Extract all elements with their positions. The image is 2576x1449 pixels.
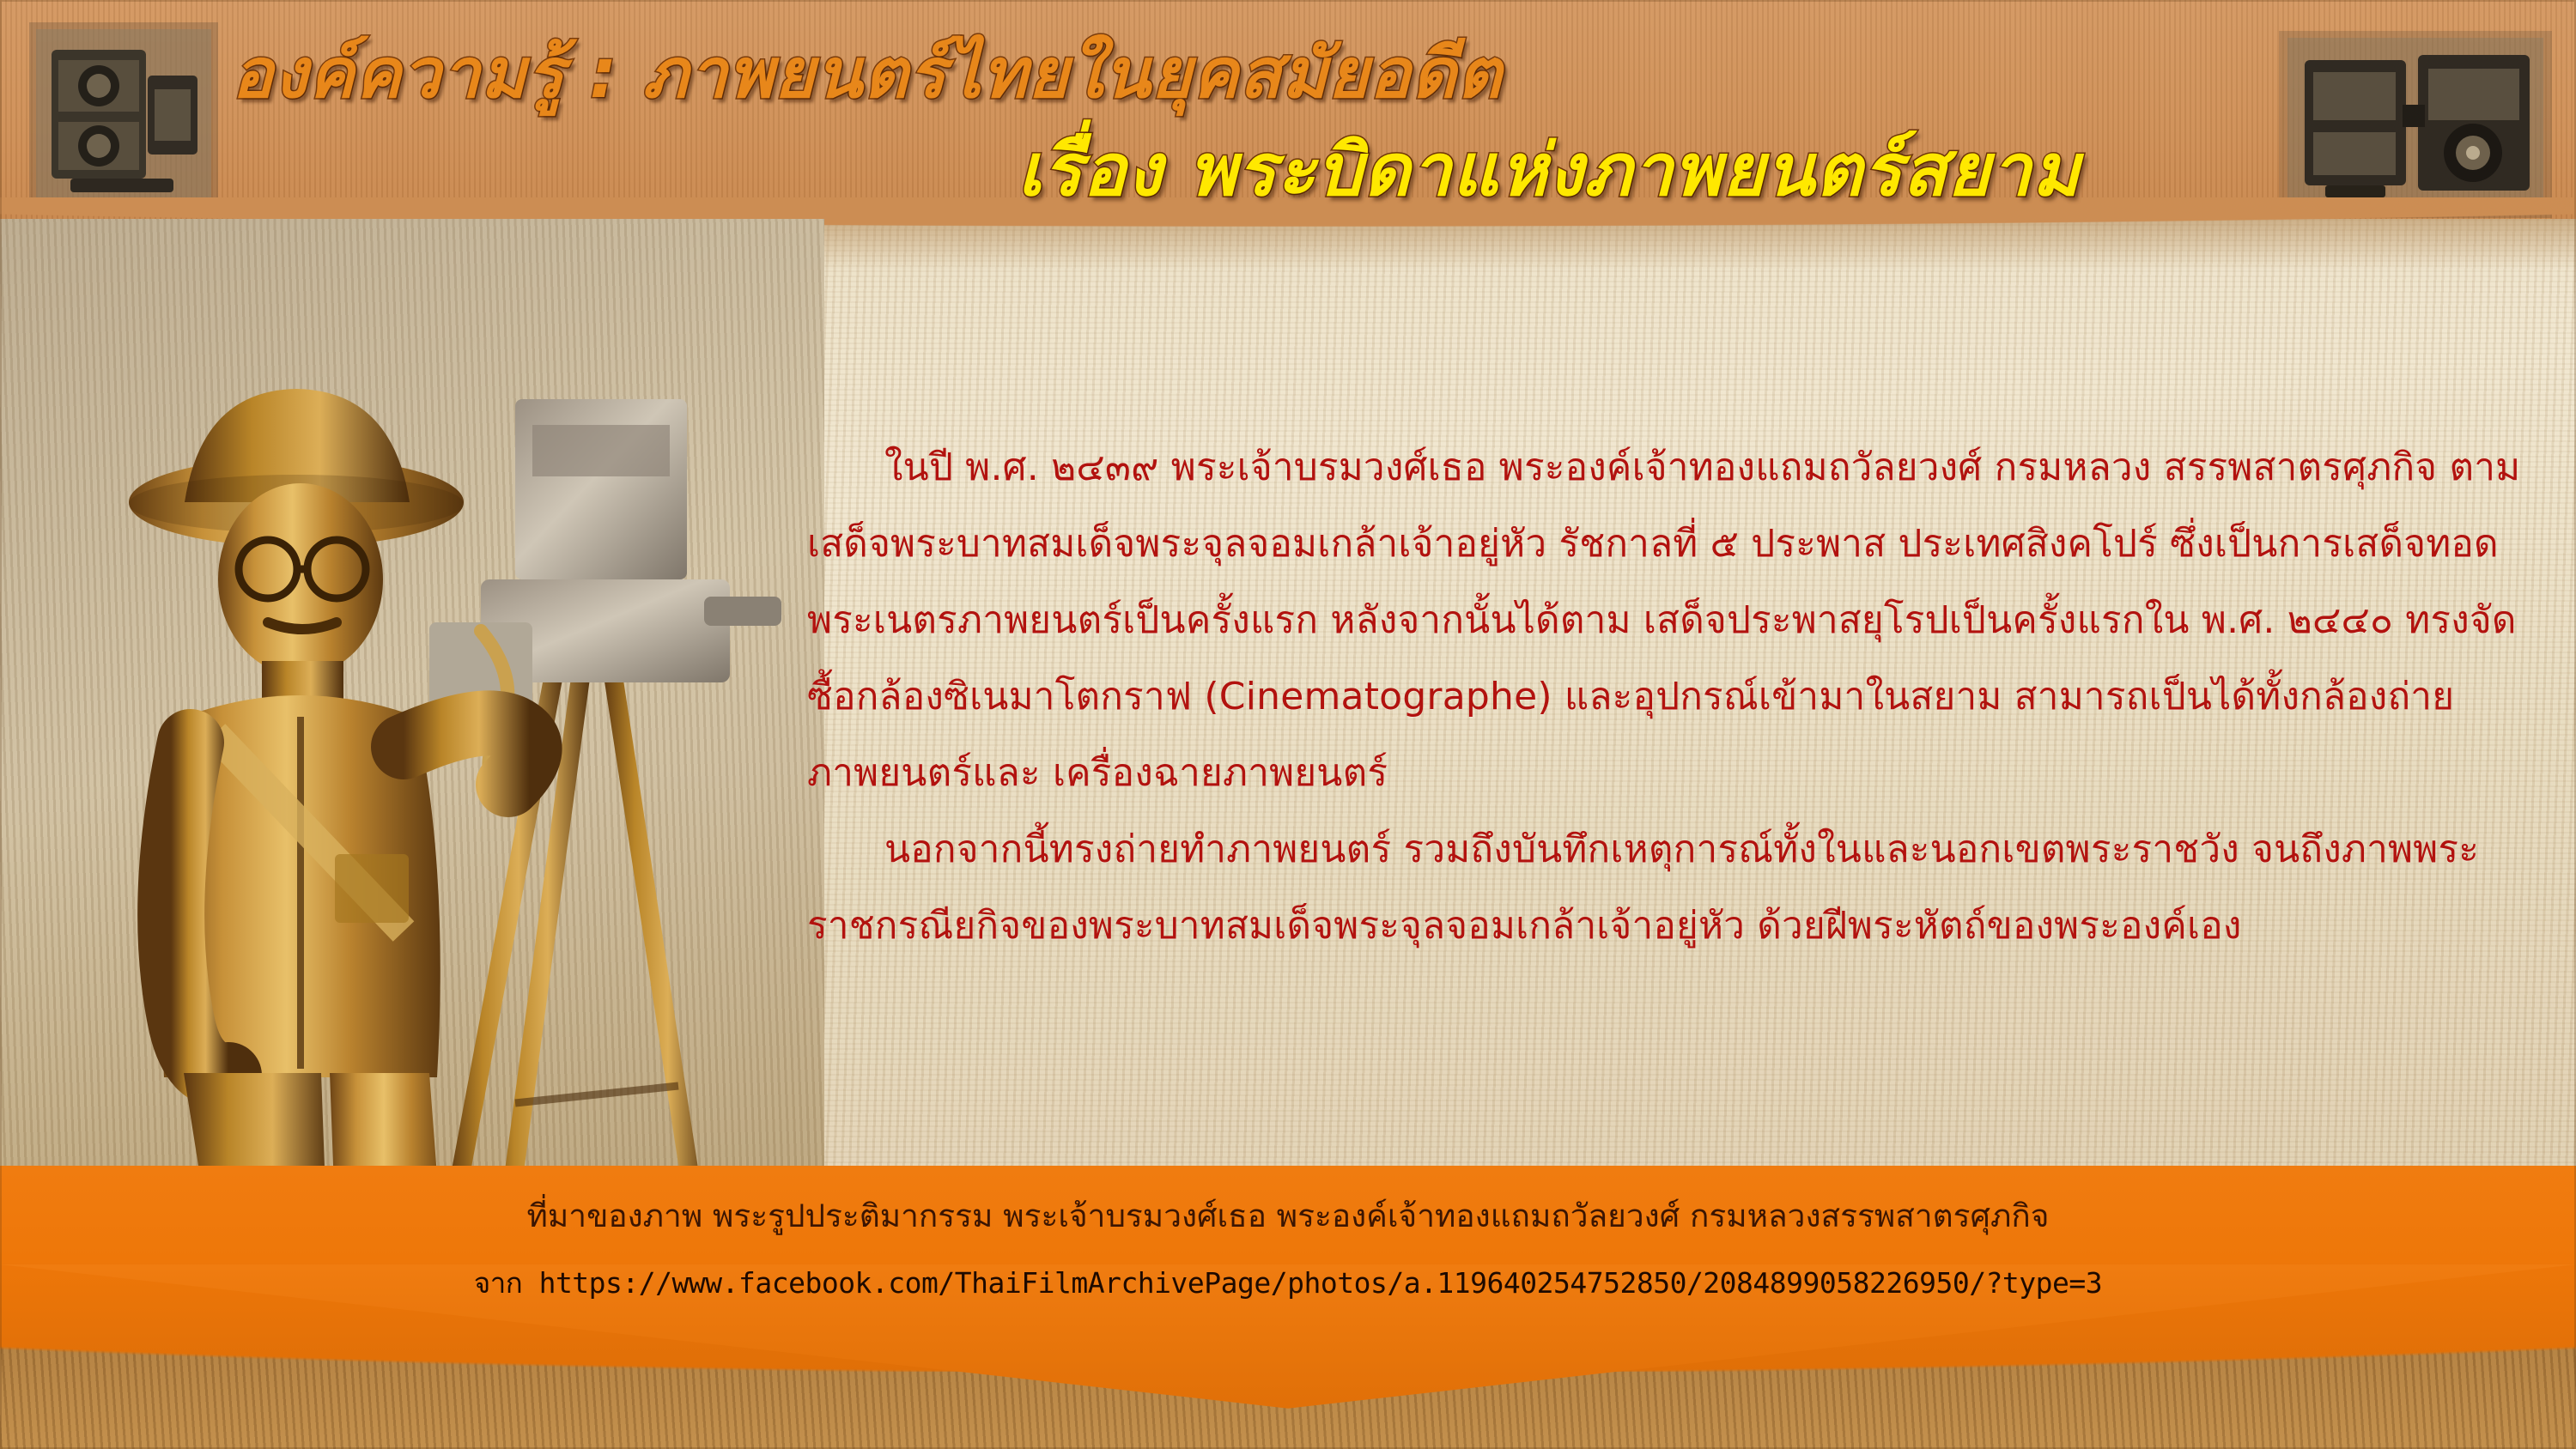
- page-title-line-2: เรื่อง พระบิดาแห่งภาพยนตร์สยาม: [1018, 112, 2081, 227]
- body-line: ในปี พ.ศ. ๒๔๓๙ พระเจ้าบรมวงศ์เธอ พระองค์…: [884, 446, 2151, 489]
- paragraph-1: ในปี พ.ศ. ๒๔๓๙ พระเจ้าบรมวงศ์เธอ พระองค์…: [807, 429, 2533, 811]
- source-url-caption: จาก https://www.facebook.com/ThaiFilmArc…: [0, 1260, 2576, 1306]
- header-band: องค์ความรู้ : ภาพยนตร์ไทยในยุคสมัยอดีต เ…: [0, 0, 2576, 232]
- article-body: ในปี พ.ศ. ๒๔๓๙ พระเจ้าบรมวงศ์เธอ พระองค์…: [807, 429, 2533, 964]
- poster-canvas: องค์ความรู้ : ภาพยนตร์ไทยในยุคสมัยอดีต เ…: [0, 0, 2576, 1449]
- body-line: เครื่องฉายภาพยนตร์: [1053, 751, 1388, 795]
- footer-banner: ที่มาของภาพ พระรูปประติมากรรม พระเจ้าบรม…: [0, 1166, 2576, 1449]
- body-line: นอกจากนี้ทรงถ่ายทำภาพยนตร์ รวมถึงบันทึกเ…: [884, 828, 2239, 871]
- body-line: ด้วยฝีพระหัตถ์ของพระองค์เอง: [1757, 904, 2241, 948]
- paragraph-2: นอกจากนี้ทรงถ่ายทำภาพยนตร์ รวมถึงบันทึกเ…: [807, 811, 2533, 964]
- title-block: องค์ความรู้ : ภาพยนตร์ไทยในยุคสมัยอดีต เ…: [0, 0, 2576, 232]
- image-source-caption: ที่มาของภาพ พระรูปประติมากรรม พระเจ้าบรม…: [0, 1197, 2576, 1236]
